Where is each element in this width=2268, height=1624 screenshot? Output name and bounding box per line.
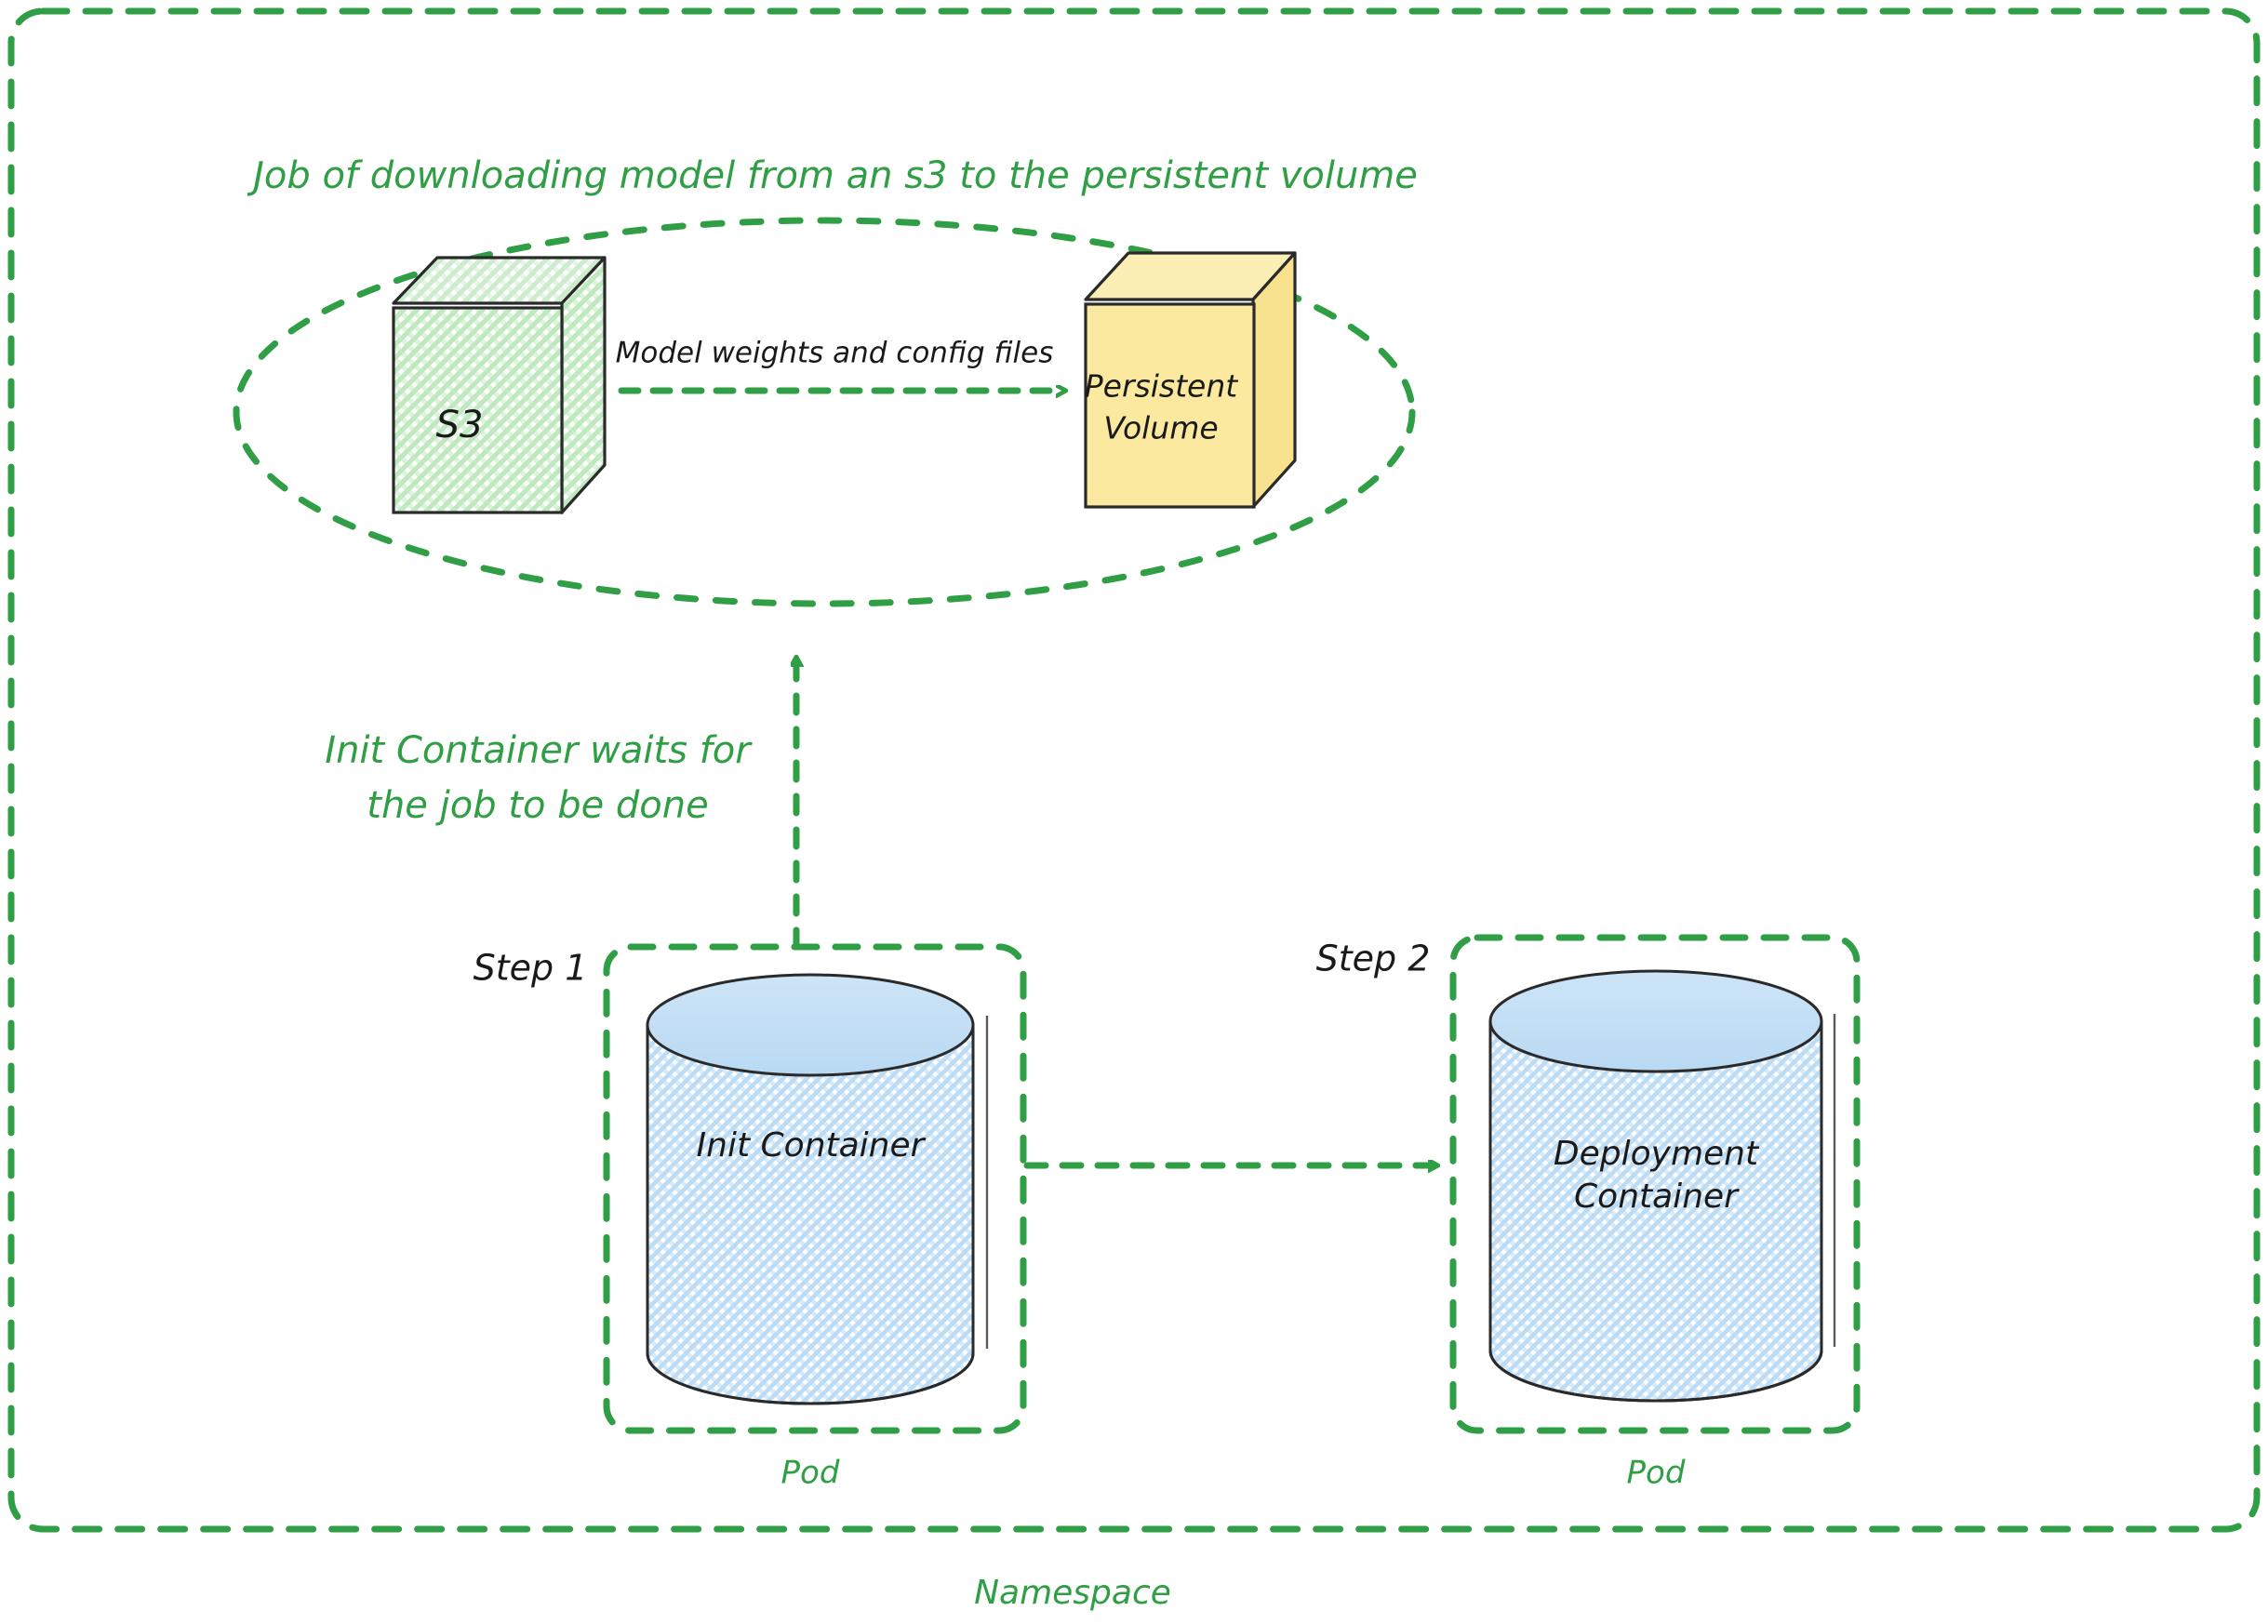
s3-cube-label: S3 [436, 404, 484, 446]
deployment-container-label-line2: Container [1574, 1178, 1740, 1216]
init-container-label: Init Container [697, 1126, 927, 1165]
step-2-label: Step 2 [1316, 938, 1431, 979]
pod-2-label: Pod [1627, 1455, 1686, 1492]
namespace-label: Namespace [974, 1574, 1171, 1612]
pod-1-label: Pod [781, 1455, 840, 1492]
pod-step-1[interactable]: Init Container Pod [607, 947, 1023, 1492]
diagram-title: Job of downloading model from an s3 to t… [247, 154, 1418, 197]
diagram-svg: S3 Persistent Volume Model weights and c… [0, 0, 2268, 1624]
persistent-volume-cube: Persistent Volume [1085, 253, 1295, 507]
diagram-canvas: S3 Persistent Volume Model weights and c… [0, 0, 2268, 1624]
s3-cube: S3 [394, 258, 605, 512]
pod-step-2[interactable]: Deployment Container Pod [1453, 938, 1857, 1492]
persistent-volume-label-line1: Persistent [1085, 368, 1238, 405]
wait-note-line1: Init Container waits for [325, 729, 753, 772]
deployment-container-label-line1: Deployment [1554, 1135, 1760, 1173]
step-1-label: Step 1 [474, 948, 588, 989]
persistent-volume-label-line2: Volume [1103, 410, 1218, 446]
wait-note-line2: the job to be done [367, 784, 708, 827]
init-container-cylinder [647, 975, 987, 1404]
transfer-arrow-label: Model weights and config files [616, 337, 1054, 370]
